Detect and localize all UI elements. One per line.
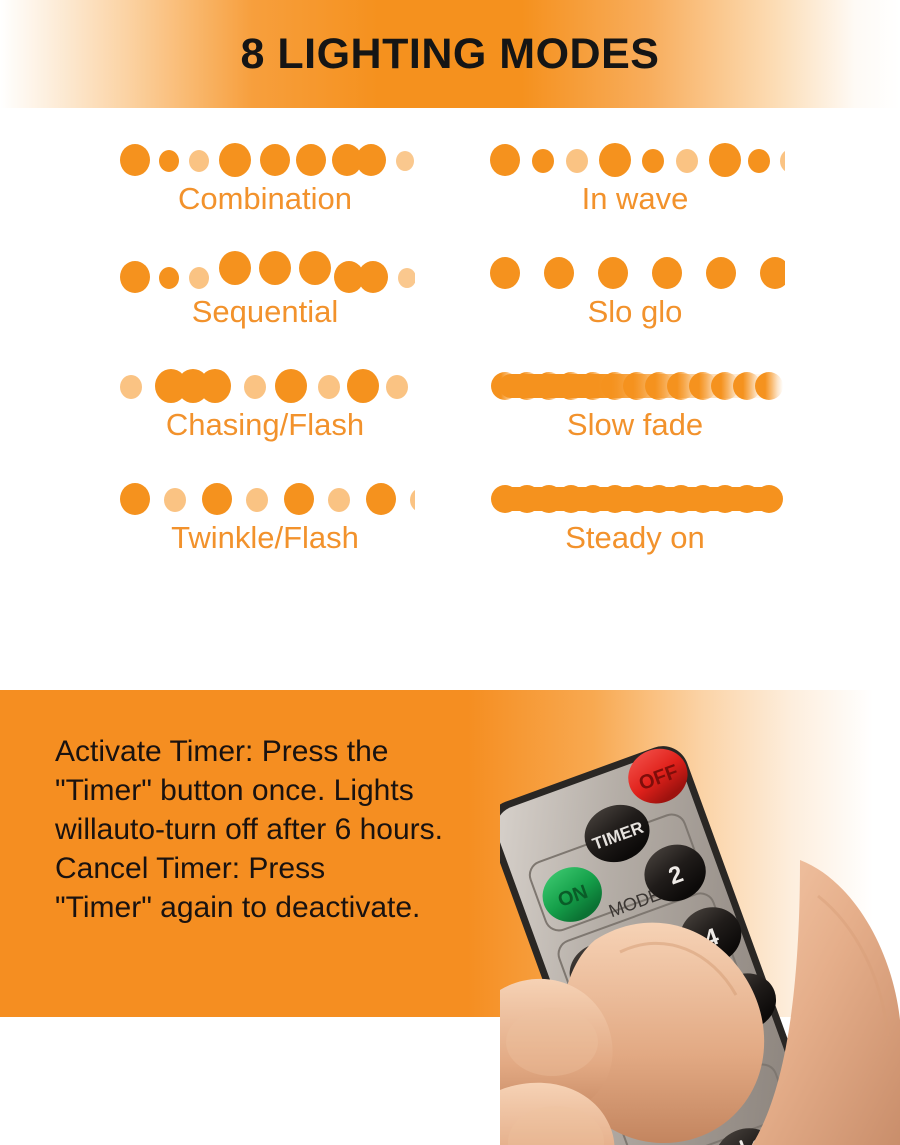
combination-dots-icon <box>115 138 415 182</box>
mode-label-twinkle-flash: Twinkle/Flash <box>171 522 359 555</box>
pattern-chasing-flash <box>115 364 415 408</box>
sequential-dots-icon <box>115 251 415 295</box>
mode-item-slo-glo: Slo glo <box>450 251 820 364</box>
mode-label-slo-glo: Slo glo <box>588 296 683 329</box>
pattern-in-wave <box>485 138 785 182</box>
mode-item-slow-fade: Slow fade <box>450 364 820 477</box>
pattern-sequential <box>115 251 415 295</box>
in-wave-dots-icon <box>485 138 785 182</box>
pattern-steady-on <box>485 477 785 521</box>
mode-label-combination: Combination <box>178 183 352 216</box>
svg-text:7: 7 <box>682 1094 704 1124</box>
remote-button-7: 7 <box>653 1069 730 1143</box>
timer-line: Cancel Timer: Press <box>55 849 525 888</box>
mode-item-combination: Combination <box>80 138 450 251</box>
pattern-slo-glo <box>485 251 785 295</box>
finger-lower <box>500 1083 615 1145</box>
slow-fade-bar-icon <box>485 364 785 408</box>
header-banner: 8 LIGHTING MODES <box>0 0 900 108</box>
timer-line: "Timer" again to deactivate. <box>55 888 525 927</box>
mode-label-chasing-flash: Chasing/Flash <box>166 409 364 442</box>
sun-icon <box>724 1136 770 1145</box>
remote-button-brightness <box>706 1119 789 1145</box>
timer-line: Activate Timer: Press the <box>55 732 525 771</box>
pattern-slow-fade <box>485 364 785 408</box>
mode-item-chasing-flash: Chasing/Flash <box>80 364 450 477</box>
mode-label-sequential: Sequential <box>192 296 339 329</box>
slo-glo-dots-icon <box>485 251 785 295</box>
mode-item-sequential: Sequential <box>80 251 450 364</box>
twinkle-flash-dots-icon <box>115 477 415 521</box>
timer-line: willauto-turn off after 6 hours. <box>55 810 525 849</box>
mode-label-in-wave: In wave <box>582 183 689 216</box>
pattern-twinkle-flash <box>115 477 415 521</box>
page-title: 8 LIGHTING MODES <box>241 33 660 76</box>
mode-item-steady-on: Steady on <box>450 477 820 590</box>
chasing-flash-dots-icon <box>115 364 415 408</box>
mode-item-in-wave: In wave <box>450 138 820 251</box>
timer-line: "Timer" button once. Lights <box>55 771 525 810</box>
steady-on-bar-icon <box>485 477 785 521</box>
mode-item-twinkle-flash: Twinkle/Flash <box>80 477 450 590</box>
lighting-modes-section: Combination <box>0 108 900 690</box>
pattern-combination <box>115 138 415 182</box>
mode-label-slow-fade: Slow fade <box>567 409 703 442</box>
modes-grid: Combination <box>80 138 820 590</box>
mode-label-steady-on: Steady on <box>565 522 705 555</box>
timer-instructions-panel: Activate Timer: Press the "Timer" button… <box>0 690 900 1017</box>
timer-instructions-text: Activate Timer: Press the "Timer" button… <box>55 732 525 927</box>
